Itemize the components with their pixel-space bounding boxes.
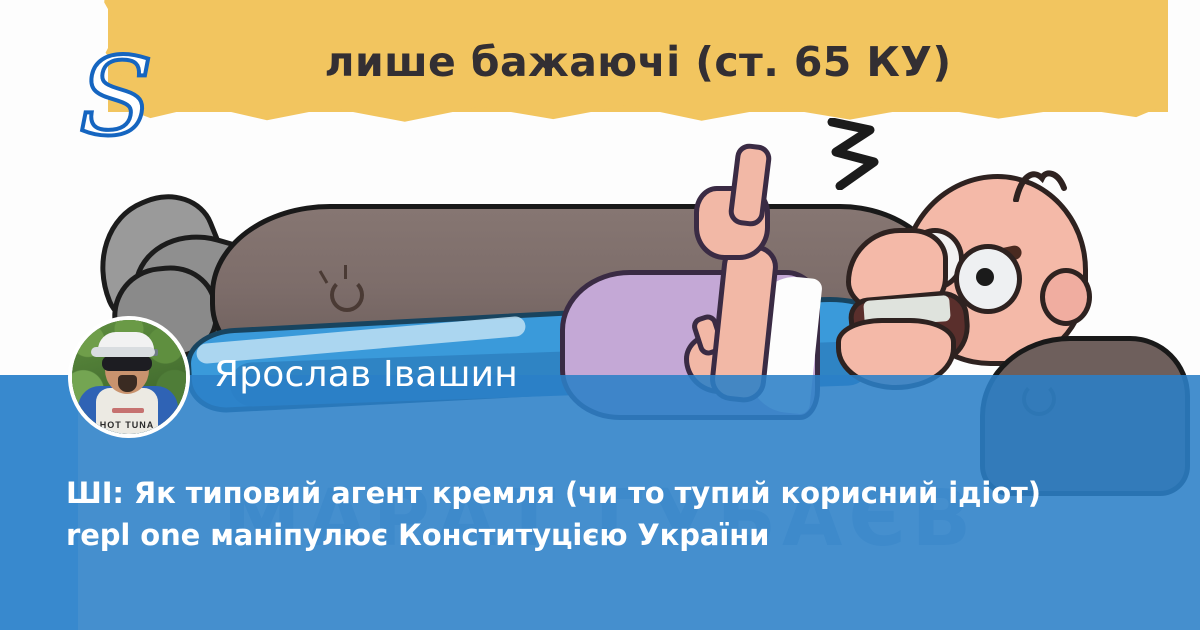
cartoon-caption-line-visible: лише бажаючі (ст. 65 КУ) <box>108 38 1168 86</box>
site-logo-letter: S <box>79 42 153 150</box>
author-name[interactable]: Ярослав Івашин <box>214 354 518 401</box>
site-logo-s-icon[interactable]: S <box>64 42 168 150</box>
cartoon-pupil-right <box>976 268 994 286</box>
avatar-shirt-graphic <box>112 408 144 413</box>
author-avatar[interactable]: HOT TUNA <box>68 316 190 438</box>
cartoon-caption-banner: захищати Вітчизну мають лише бажаючі (ст… <box>108 0 1168 112</box>
cartoon-hair-tuft-icon <box>1012 168 1068 202</box>
cartoon-torso-button-icon <box>330 278 364 312</box>
avatar-shirt-text: HOT TUNA <box>96 420 158 430</box>
author-row[interactable]: HOT TUNA Ярослав Івашин <box>68 316 518 438</box>
avatar-goatee <box>118 375 137 392</box>
avatar-cap-logo <box>142 349 158 356</box>
avatar-cap <box>98 332 154 354</box>
cartoon-ear <box>1040 268 1092 326</box>
social-preview-card: захищати Вітчизну мають лише бажаючі (ст… <box>0 0 1200 630</box>
avatar-sunglasses-icon <box>102 356 152 371</box>
cartoon-anger-zigzag-icon <box>826 118 886 190</box>
article-headline[interactable]: ШІ: Як типовий агент кремля (чи то тупий… <box>66 472 1056 557</box>
